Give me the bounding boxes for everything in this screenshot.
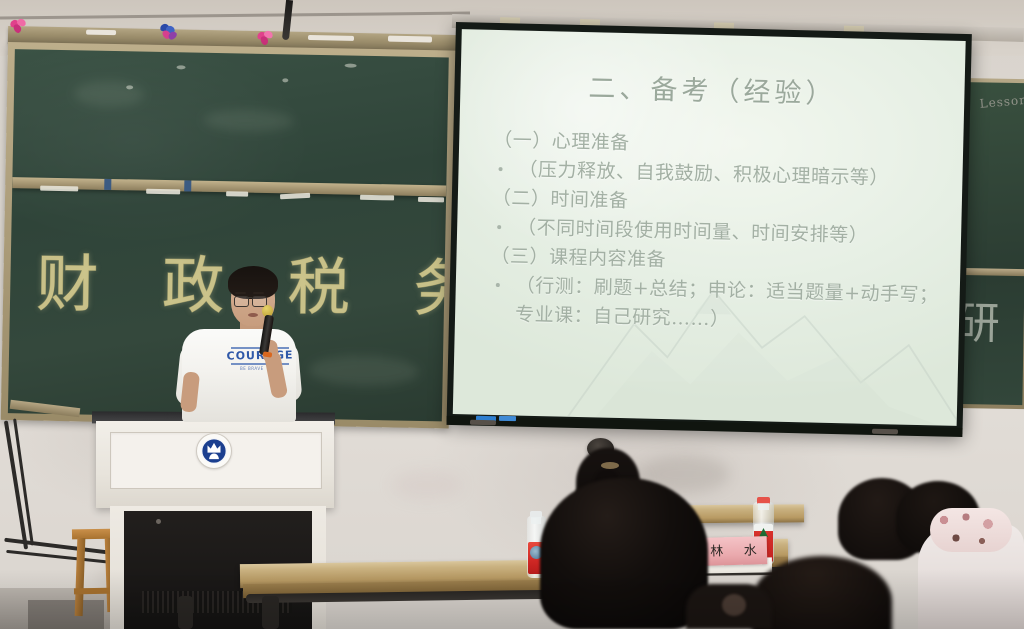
desk-foot-1 (262, 596, 279, 629)
rail-chip-1 (86, 30, 116, 36)
chalk-piece-5 (360, 195, 394, 201)
blackboard-right-text: 研 究 (960, 287, 1024, 353)
chalk-fleck-1 (126, 85, 133, 89)
chalk-piece-1 (40, 186, 78, 192)
projector-screen: 二、备考（经验） （一）心理准备 （压力释放、自我鼓励、积极心理暗示等） （二）… (447, 22, 972, 434)
rail-chip-3 (388, 36, 432, 43)
speaker-hair (228, 266, 278, 299)
pink-ribbon-left (10, 18, 28, 34)
speaker-brow-right (253, 292, 264, 294)
speaker-glasses-bridge (246, 297, 252, 298)
hair-tie (601, 462, 619, 469)
slide-body: （一）心理准备 （压力释放、自我鼓励、积极心理暗示等） （二）时间准备 （不同时… (489, 126, 950, 340)
stool-rung (74, 588, 114, 595)
speaker-mouth (248, 313, 258, 317)
university-emblem-icon (196, 433, 232, 469)
student-right-c-pattern (930, 508, 1012, 552)
blue-marker-2 (499, 416, 516, 421)
screen-hook-right (872, 429, 898, 435)
projected-slide: 二、备考（经验） （一）心理准备 （压力释放、自我鼓励、积极心理暗示等） （二）… (453, 29, 966, 426)
chalk-piece-4 (280, 193, 310, 200)
chalk-smudge-3 (308, 355, 419, 387)
bottle-neck-left (531, 517, 541, 524)
student-far-right-item (722, 594, 746, 616)
pink-ribbon-right (257, 31, 275, 47)
chalk-smudge-1 (74, 80, 144, 107)
name-card-char-1: 林 (710, 545, 723, 558)
bottle-neck-right (758, 503, 769, 510)
rail-chip-2 (308, 35, 354, 41)
shirt-subtext: BE BRAVE (240, 366, 264, 371)
desk-foot-2 (178, 596, 193, 629)
chalk-fleck-3 (282, 78, 288, 82)
chalk-tray-right (963, 268, 1024, 276)
blackboard-right-surface: Lesson 研 究 (960, 82, 1024, 405)
chalk-piece-3 (226, 191, 248, 196)
name-card[interactable]: 林 水 (700, 536, 768, 566)
chalk-smudge-2 (203, 109, 293, 133)
screen-hook-left (470, 420, 496, 426)
classroom-photo: 财 政 税 务 学 Lesson 研 究 二、备考（经验） （一）心理准备 (0, 0, 1024, 629)
blackboard-right-small-text: Lesson (979, 93, 1024, 111)
wall-stain-3 (392, 470, 462, 500)
name-card-char-2: 水 (744, 544, 757, 557)
slide-line-6: （行测：刷题+总结；申论：适当题量+动手写；专业课：自己研究……） (489, 271, 946, 340)
panel-screw (156, 519, 161, 524)
chalk-piece-6 (418, 197, 444, 202)
speaker-brow-left (235, 292, 246, 294)
tray-clip-2 (184, 180, 191, 191)
blue-ribbon-center (160, 24, 178, 40)
chalk-fleck-4 (345, 63, 357, 67)
tray-clip-1 (104, 179, 111, 190)
floor-dark-left (28, 600, 104, 629)
chalk-fleck-2 (177, 65, 186, 69)
chalk-piece-2 (146, 189, 180, 195)
student-front-center-hair (540, 478, 708, 629)
